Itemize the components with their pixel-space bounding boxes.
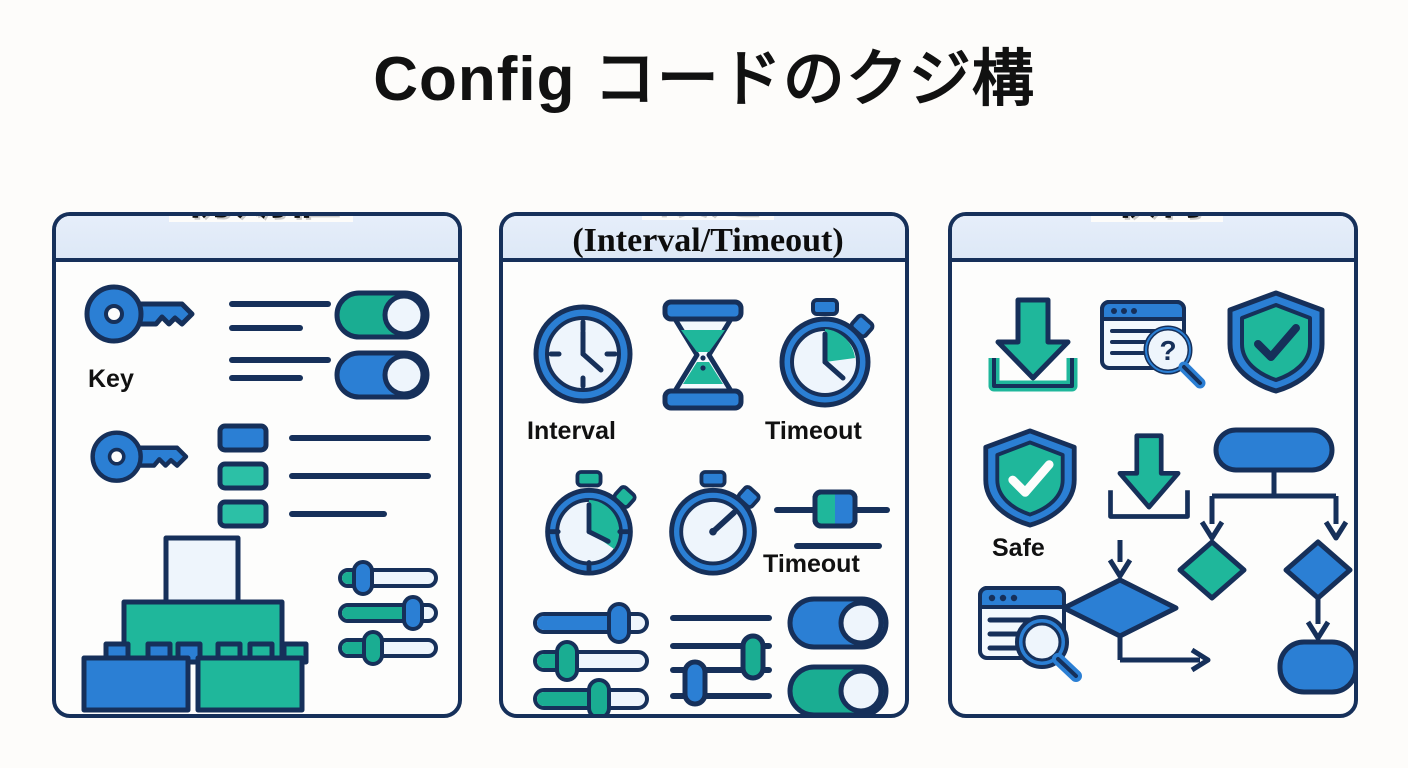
list-swatch-teal — [220, 502, 266, 526]
stopwatch-icon — [661, 470, 765, 578]
browser-search-icon — [978, 584, 1088, 680]
toggle-on-blue — [790, 599, 886, 647]
key-icon — [78, 430, 198, 494]
toggle-group[interactable] — [787, 596, 891, 718]
safe-label: Safe — [992, 534, 1045, 563]
text-lines — [228, 298, 348, 384]
list-swatch-teal — [220, 464, 266, 488]
shield-check-icon — [1224, 290, 1328, 394]
slider-handle — [743, 636, 763, 678]
toggle-on-teal[interactable] — [334, 290, 430, 340]
stopwatch-icon — [771, 298, 879, 410]
toggle-on-blue[interactable] — [334, 350, 430, 400]
slider-handle — [685, 662, 705, 704]
panel-header-band — [952, 216, 1354, 262]
hourglass-icon — [661, 300, 745, 410]
slider-lines-group[interactable] — [671, 606, 775, 714]
slider-row — [340, 597, 436, 629]
slider-handle-icon[interactable] — [775, 484, 891, 554]
key-label: Key — [88, 365, 134, 394]
key-icon — [78, 284, 198, 356]
flowchart-decision-icon — [1072, 540, 1222, 680]
slider-row — [340, 632, 436, 664]
slider-row — [535, 680, 647, 718]
panel-retrieval: 取得 — [948, 212, 1358, 718]
download-icon — [984, 294, 1082, 392]
timeout-label-2: Timeout — [763, 550, 860, 579]
panel-defaults: 初期値 Key — [52, 212, 462, 718]
panel-body-retrieval: ? Safe — [952, 262, 1354, 710]
stopwatch-icon — [537, 470, 641, 578]
list-swatch-blue — [220, 426, 266, 450]
panel-body-defaults: Key — [56, 262, 458, 710]
panel-header-band — [56, 216, 458, 262]
panel-settings: 設定 (Interval/Timeout) Interval — [499, 212, 909, 718]
building-blocks-icon — [78, 534, 330, 682]
shield-check-icon — [980, 428, 1080, 528]
panel-body-settings: Interval — [503, 262, 905, 710]
interval-label: Interval — [527, 417, 616, 446]
slider-group[interactable] — [533, 602, 655, 714]
slider-group[interactable] — [338, 560, 442, 670]
list-rows — [216, 422, 436, 532]
slider-row — [535, 604, 647, 642]
timeout-label: Timeout — [765, 417, 862, 446]
toggle-on-teal — [790, 667, 886, 715]
browser-search-question-icon: ? — [1100, 298, 1210, 392]
panel-header-band — [503, 216, 905, 262]
svg-text:?: ? — [1159, 335, 1176, 366]
infographic-canvas: Config コードのクジ構 初期値 Key — [0, 0, 1408, 768]
slider-row — [535, 642, 647, 680]
page-title: Config コードのクジ構 — [0, 44, 1408, 115]
clock-icon — [531, 302, 635, 406]
slider-row — [340, 562, 436, 594]
